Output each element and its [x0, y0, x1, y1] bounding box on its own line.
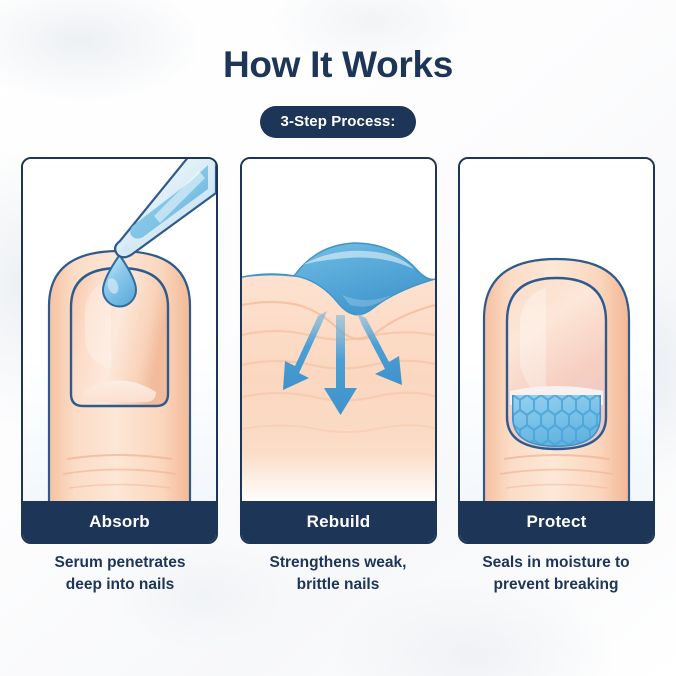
illustration-absorb: [23, 159, 216, 503]
caption-line: Serum penetrates: [55, 554, 186, 571]
step-band-rebuild: Rebuild: [242, 501, 435, 542]
how-it-works-infographic: How It Works 3-Step Process:: [0, 0, 676, 676]
step-band-absorb: Absorb: [23, 501, 216, 542]
badge-container: 3-Step Process:: [0, 106, 676, 138]
step-card-protect[interactable]: Protect: [458, 157, 655, 544]
caption-line: Seals in moisture to: [482, 554, 629, 571]
step-caption-absorb: Serum penetrates deep into nails: [12, 552, 228, 596]
dropper-pipette: [115, 159, 216, 257]
step-band-protect: Protect: [460, 501, 653, 542]
page-title: How It Works: [0, 44, 676, 86]
step-caption-rebuild: Strengthens weak, brittle nails: [230, 552, 446, 596]
step-card-rebuild[interactable]: Rebuild: [240, 157, 437, 544]
step-label: Rebuild: [307, 512, 371, 532]
illustration-rebuild: [242, 159, 435, 503]
caption-line: deep into nails: [12, 574, 228, 596]
step-card-absorb[interactable]: Absorb: [21, 157, 218, 544]
absorption-layers-illustration: [242, 159, 435, 503]
step-caption-protect: Seals in moisture to prevent breaking: [448, 552, 664, 596]
hexagon-shield-nail-illustration: [460, 159, 653, 503]
caption-line: prevent breaking: [448, 574, 664, 596]
captions-row: Serum penetrates deep into nails Strengt…: [0, 552, 676, 612]
status-badge: 3-Step Process:: [260, 106, 417, 138]
caption-line: Strengthens weak,: [270, 554, 407, 571]
step-label: Protect: [527, 512, 587, 532]
caption-line: brittle nails: [230, 574, 446, 596]
steps-row: Absorb: [0, 157, 676, 547]
dropper-on-nail-illustration: [23, 159, 216, 503]
illustration-protect: [460, 159, 653, 503]
step-label: Absorb: [89, 512, 150, 532]
